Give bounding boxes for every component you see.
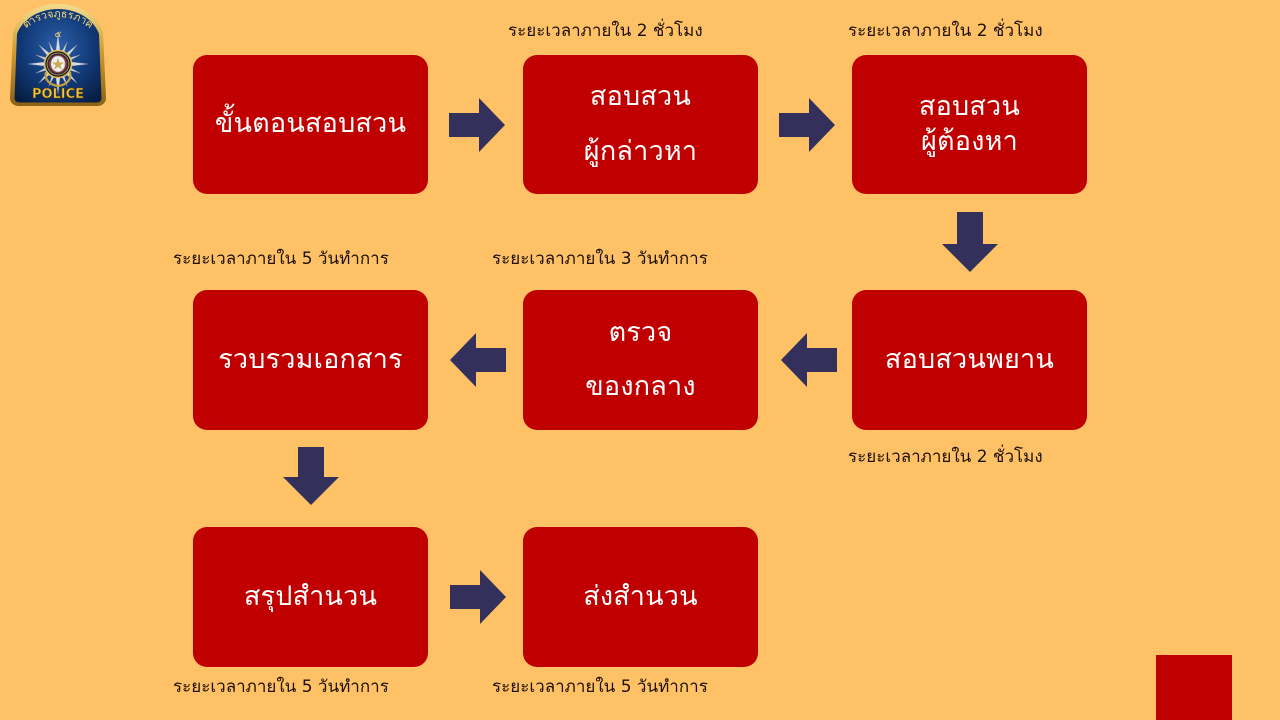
- node-collect-documents[interactable]: รวบรวมเอกสาร: [193, 290, 428, 430]
- node-inspect-evidence-line-1: ตรวจ: [609, 319, 673, 347]
- node-interview-suspect-line-2: ผู้ต้องหา: [921, 128, 1018, 156]
- node-interview-accuser[interactable]: สอบสวน ผู้กล่าวหา: [523, 55, 758, 194]
- node-submit-file[interactable]: ส่งสำนวน: [523, 527, 758, 667]
- caption-witness: ระยะเวลาภายใน 2 ชั่วโมง: [848, 448, 1043, 467]
- arrow-witness-to-evidence: [781, 333, 837, 387]
- arrow-suspect-to-witness: [942, 212, 998, 272]
- node-interview-witness[interactable]: สอบสวนพยาน: [852, 290, 1087, 430]
- node-inspect-evidence-line-2: ของกลาง: [585, 373, 696, 401]
- node-interview-accuser-line-1: สอบสวน: [590, 83, 691, 111]
- arrow-documents-to-summarize: [283, 447, 339, 505]
- node-submit-file-line-1: ส่งสำนวน: [583, 583, 698, 611]
- node-start-line-1: ขั้นตอนสอบสวน: [215, 110, 406, 138]
- node-collect-documents-line-1: รวบรวมเอกสาร: [218, 346, 403, 374]
- arrow-accuser-to-suspect: [779, 98, 835, 152]
- corner-red-block: [1156, 655, 1232, 720]
- node-summarize-file[interactable]: สรุปสำนวน: [193, 527, 428, 667]
- node-interview-suspect-line-1: สอบสวน: [919, 93, 1020, 121]
- arrow-summarize-to-submit: [450, 570, 506, 624]
- arrow-start-to-accuser: [449, 98, 505, 152]
- caption-suspect: ระยะเวลาภายใน 2 ชั่วโมง: [848, 22, 1043, 41]
- node-inspect-evidence[interactable]: ตรวจ ของกลาง: [523, 290, 758, 430]
- node-interview-suspect[interactable]: สอบสวน ผู้ต้องหา: [852, 55, 1087, 194]
- flowchart-canvas: ตำรวจภูธรภาค ๕: [0, 0, 1280, 720]
- svg-text:POLICE: POLICE: [32, 87, 84, 102]
- arrow-evidence-to-documents: [450, 333, 506, 387]
- node-interview-witness-line-1: สอบสวนพยาน: [885, 346, 1054, 374]
- caption-submit: ระยะเวลาภายใน 5 วันทำการ: [492, 678, 708, 697]
- node-start[interactable]: ขั้นตอนสอบสวน: [193, 55, 428, 194]
- thai-royal-police-badge-icon: ตำรวจภูธรภาค ๕: [6, 2, 110, 114]
- caption-accuser: ระยะเวลาภายใน 2 ชั่วโมง: [508, 22, 703, 41]
- node-summarize-file-line-1: สรุปสำนวน: [244, 583, 377, 611]
- caption-summarize: ระยะเวลาภายใน 5 วันทำการ: [173, 678, 389, 697]
- caption-evidence: ระยะเวลาภายใน 3 วันทำการ: [492, 250, 708, 269]
- caption-documents: ระยะเวลาภายใน 5 วันทำการ: [173, 250, 389, 269]
- node-interview-accuser-line-2: ผู้กล่าวหา: [584, 138, 697, 166]
